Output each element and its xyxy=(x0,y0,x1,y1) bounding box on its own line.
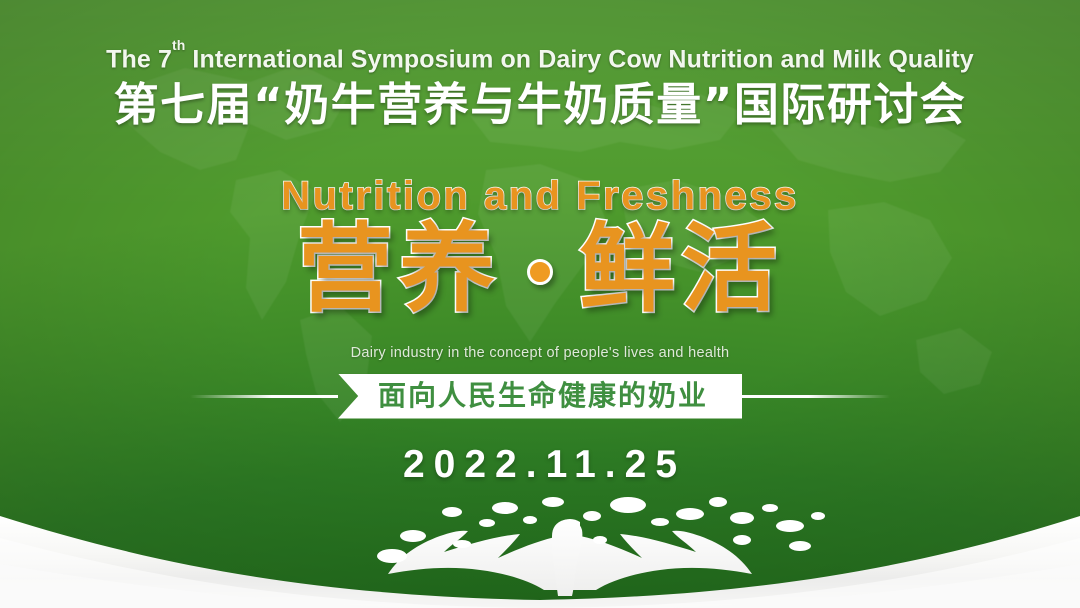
milk-splash-icon xyxy=(0,478,1080,608)
poster: The 7th International Symposium on Dairy… xyxy=(0,0,1080,608)
subtitle-english: Dairy industry in the concept of people'… xyxy=(0,345,1080,361)
ribbon-rule-right xyxy=(742,395,890,398)
subtitle-ribbon: 面向人民生命健康的奶业 xyxy=(0,373,1080,419)
hero-english-slogan: Nutrition and Freshness xyxy=(0,176,1080,216)
english-title-ordinal: th xyxy=(172,37,185,53)
hero-separator-dot-icon xyxy=(527,259,553,285)
english-title: The 7th International Symposium on Dairy… xyxy=(0,46,1080,72)
ribbon-rule-left xyxy=(190,395,338,398)
subtitle-chinese: 面向人民生命健康的奶业 xyxy=(378,382,708,410)
english-title-pre: The 7 xyxy=(106,45,172,73)
ribbon-banner: 面向人民生命健康的奶业 xyxy=(338,374,742,419)
hero-chinese-slogan: 营养 鲜活 xyxy=(0,221,1080,317)
poster-header: The 7th International Symposium on Dairy… xyxy=(0,46,1080,129)
english-title-post: International Symposium on Dairy Cow Nut… xyxy=(185,45,973,73)
chinese-title: 第七届“奶牛营养与牛奶质量”国际研讨会 xyxy=(0,81,1080,129)
hero-chinese-right: 鲜活 xyxy=(579,221,783,317)
hero-chinese-left: 营养 xyxy=(297,221,501,317)
hero-block: Nutrition and Freshness 营养 鲜活 xyxy=(0,176,1080,317)
